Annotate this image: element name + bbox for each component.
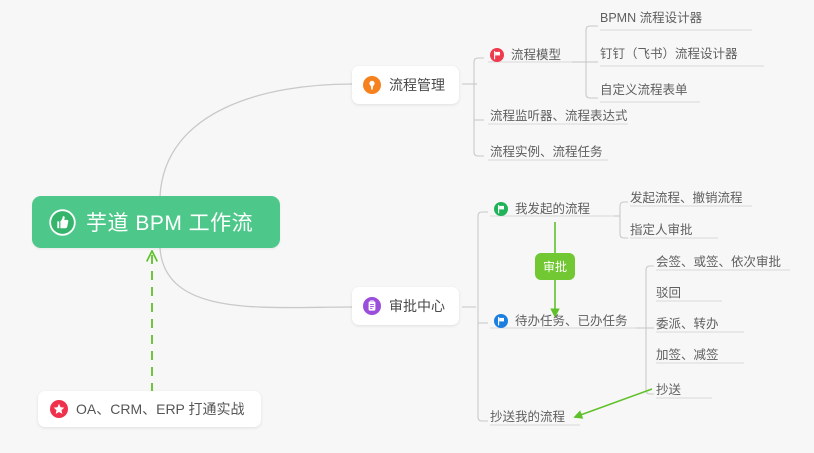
location-pin-icon bbox=[363, 76, 381, 94]
topic-add-remove-sign[interactable]: 加签、减签 bbox=[656, 349, 719, 367]
topic-custom-form[interactable]: 自定义流程表单 bbox=[600, 84, 688, 102]
topic-start-cancel-flow[interactable]: 发起流程、撤销流程 bbox=[630, 192, 743, 210]
topic-dingtalk-designer[interactable]: 钉钉（飞书）流程设计器 bbox=[600, 48, 738, 66]
topic-label: 待办任务、已办任务 bbox=[515, 315, 628, 328]
root-label: 芋道 BPM 工作流 bbox=[86, 207, 253, 237]
topic-assigned-approval[interactable]: 指定人审批 bbox=[630, 224, 693, 242]
arrow-cc-to-ccflow bbox=[575, 389, 652, 417]
topic-todo-done-tasks[interactable]: 待办任务、已办任务 bbox=[494, 314, 628, 333]
topic-label: 流程监听器、流程表达式 bbox=[490, 110, 628, 123]
flag-icon bbox=[494, 314, 508, 328]
wire-model-spine bbox=[586, 26, 598, 98]
topic-label: 加签、减签 bbox=[656, 349, 719, 362]
topic-label: 指定人审批 bbox=[630, 224, 693, 237]
topic-label: 我发起的流程 bbox=[515, 203, 590, 216]
topic-label: 委派、转办 bbox=[656, 318, 719, 331]
topic-label: 抄送我的流程 bbox=[490, 411, 565, 424]
wire-process-spine bbox=[474, 58, 484, 156]
branch-node-approval-center[interactable]: 审批中心 bbox=[352, 287, 459, 325]
topic-cc-to-me-flows[interactable]: 抄送我的流程 bbox=[490, 411, 565, 429]
thumbs-up-icon bbox=[49, 209, 76, 236]
document-icon bbox=[363, 297, 381, 315]
wire-todo-spine bbox=[646, 266, 654, 394]
topic-process-model[interactable]: 流程模型 bbox=[490, 48, 561, 67]
wire-approval-spine bbox=[478, 212, 488, 421]
flag-icon bbox=[494, 202, 508, 216]
topic-label: 自定义流程表单 bbox=[600, 84, 688, 97]
callout-label: OA、CRM、ERP 打通实战 bbox=[76, 399, 245, 419]
topic-process-instance[interactable]: 流程实例、流程任务 bbox=[490, 146, 603, 164]
mindmap-canvas: 芋道 BPM 工作流 流程管理 审批中心 bbox=[0, 0, 814, 453]
topic-label: 会签、或签、依次审批 bbox=[656, 256, 781, 269]
topic-reject[interactable]: 驳回 bbox=[656, 287, 681, 305]
topic-label: 发起流程、撤销流程 bbox=[630, 192, 743, 205]
topic-label: 流程实例、流程任务 bbox=[490, 146, 603, 159]
callout-node-integration[interactable]: OA、CRM、ERP 打通实战 bbox=[38, 391, 261, 427]
topic-label: BPMN 流程设计器 bbox=[600, 12, 702, 25]
approval-badge-label: 审批 bbox=[543, 258, 567, 275]
topic-countersign[interactable]: 会签、或签、依次审批 bbox=[656, 256, 781, 274]
topic-label: 流程模型 bbox=[511, 49, 561, 62]
topic-process-listener[interactable]: 流程监听器、流程表达式 bbox=[490, 110, 628, 128]
topic-my-initiated-flows[interactable]: 我发起的流程 bbox=[494, 202, 590, 221]
root-node[interactable]: 芋道 BPM 工作流 bbox=[32, 196, 280, 248]
flag-icon bbox=[490, 48, 504, 62]
topic-bpmn-designer[interactable]: BPMN 流程设计器 bbox=[600, 12, 702, 30]
branch-label-process-management: 流程管理 bbox=[389, 75, 445, 95]
topic-delegate-transfer[interactable]: 委派、转办 bbox=[656, 318, 719, 336]
branch-label-approval-center: 审批中心 bbox=[389, 296, 445, 316]
topic-label: 抄送 bbox=[656, 384, 681, 397]
wire-root-to-approval bbox=[160, 248, 352, 308]
wire-root-to-process bbox=[160, 84, 352, 196]
star-icon bbox=[50, 400, 68, 418]
topic-cc[interactable]: 抄送 bbox=[656, 384, 681, 402]
topic-label: 钉钉（飞书）流程设计器 bbox=[600, 48, 738, 61]
branch-node-process-management[interactable]: 流程管理 bbox=[352, 66, 459, 104]
topic-label: 驳回 bbox=[656, 287, 681, 300]
wire-initiated-spine bbox=[620, 202, 628, 238]
approval-badge: 审批 bbox=[535, 253, 575, 280]
